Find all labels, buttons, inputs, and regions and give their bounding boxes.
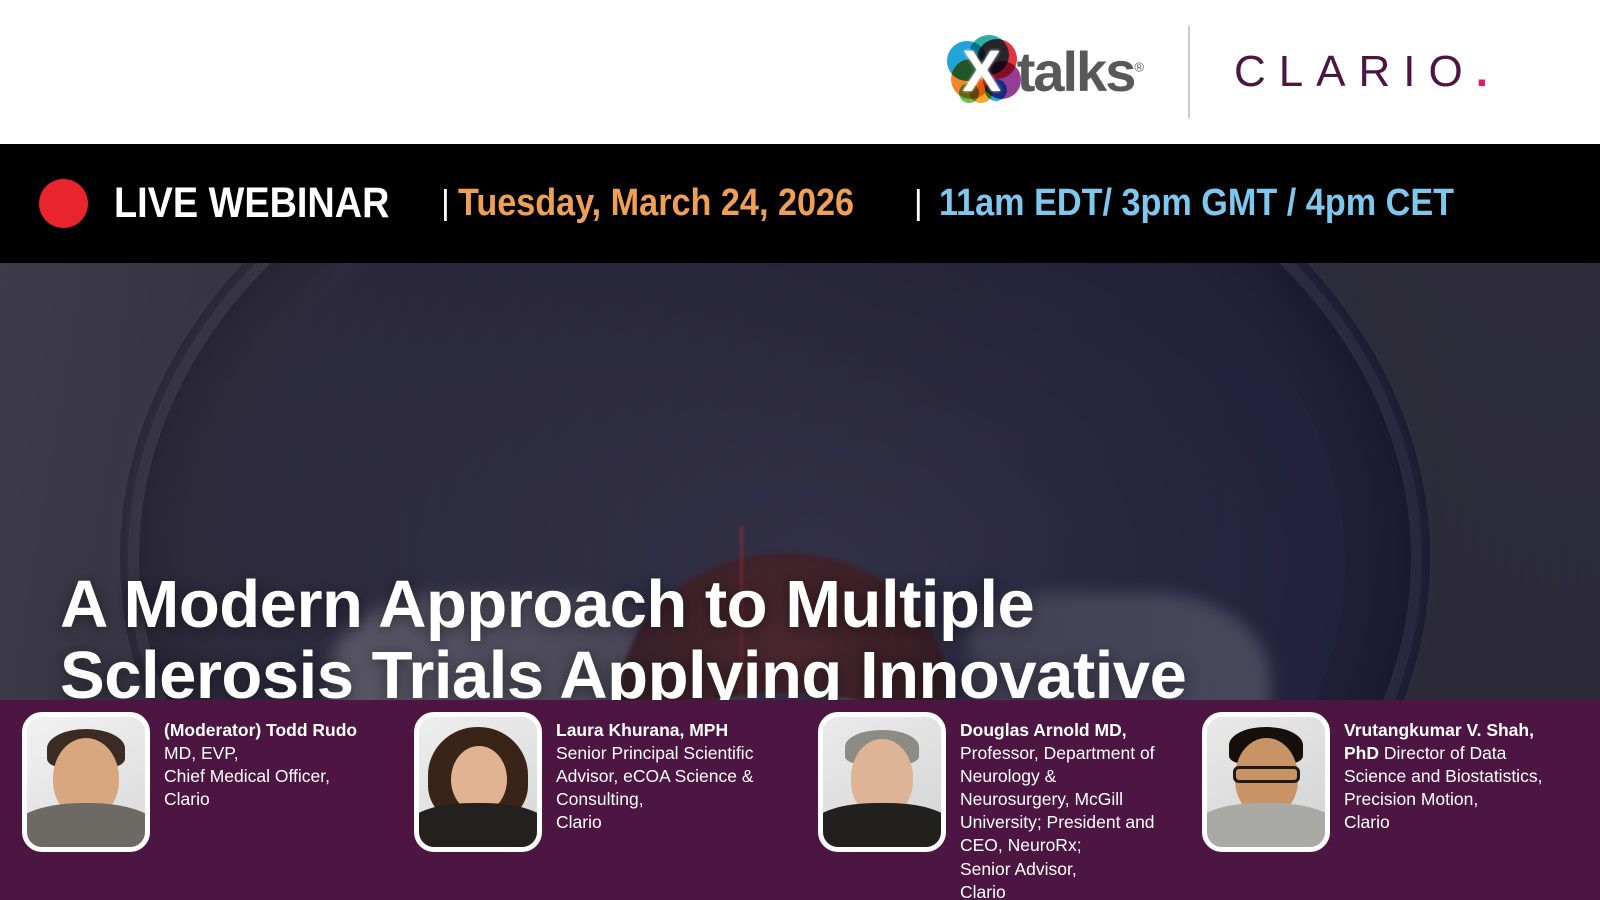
speaker-role-line: Professor, Department of: [960, 742, 1155, 765]
speaker-card-todd-rudo: (Moderator) Todd Rudo MD, EVP, Chief Med…: [0, 700, 400, 900]
logo-divider: [1188, 26, 1190, 118]
logo-group: X talks® CLARIO.: [945, 26, 1488, 118]
speaker-role-line: Precision Motion,: [1344, 788, 1542, 811]
speaker-company: Clario: [556, 811, 753, 834]
speaker-photo-todd-rudo: [22, 712, 150, 852]
speaker-role-line: Neurology &: [960, 765, 1155, 788]
webinar-promo-page: X talks® CLARIO. LIVE WEBINAR | Tuesday,…: [0, 0, 1600, 900]
speaker-role-line: Senior Advisor,: [960, 858, 1155, 881]
title-line-2: Sclerosis Trials Applying Innovative: [60, 640, 1500, 700]
speaker-card-douglas-arnold: Douglas Arnold MD, Professor, Department…: [810, 700, 1198, 900]
speaker-name: Laura Khurana, MPH: [556, 719, 753, 742]
speaker-role-line: Advisor, eCOA Science &: [556, 765, 753, 788]
speaker-company: Clario: [960, 881, 1155, 900]
webinar-time: 11am EDT/ 3pm GMT / 4pm CET: [939, 182, 1454, 225]
speaker-role-line: Consulting,: [556, 788, 753, 811]
speaker-role-line: Neurosurgery, McGill: [960, 788, 1155, 811]
speaker-photo-douglas-arnold: [818, 712, 946, 852]
speaker-degree: PhD: [1344, 743, 1379, 763]
speaker-role-line: University; President and: [960, 811, 1155, 834]
title-line-1: A Modern Approach to Multiple: [60, 569, 1500, 640]
speaker-company: Clario: [164, 788, 357, 811]
live-separator-2: |: [914, 184, 923, 223]
eyeglasses-icon: [1233, 766, 1300, 783]
xtalks-x-glyph: X: [945, 33, 1019, 111]
xtalks-logo[interactable]: X talks®: [945, 33, 1144, 111]
speakers-row: (Moderator) Todd Rudo MD, EVP, Chief Med…: [0, 700, 1600, 900]
live-indicator-icon: [39, 179, 88, 228]
webinar-date: Tuesday, March 24, 2026: [458, 182, 854, 225]
clario-logo[interactable]: CLARIO.: [1234, 50, 1488, 94]
speaker-company: Clario: [1344, 811, 1542, 834]
registered-mark-icon: ®: [1134, 59, 1144, 74]
speaker-photo-laura-khurana: [414, 712, 542, 852]
speaker-name: (Moderator) Todd Rudo: [164, 719, 357, 742]
speaker-degree-and-role: PhD Director of Data: [1344, 742, 1542, 765]
speaker-card-vrutangkumar-shah: Vrutangkumar V. Shah, PhD Director of Da…: [1198, 700, 1598, 900]
clario-dot: .: [1476, 47, 1488, 96]
header-logo-bar: X talks® CLARIO.: [0, 0, 1600, 144]
speaker-role-line: CEO, NeuroRx;: [960, 834, 1155, 857]
speaker-role-line: Chief Medical Officer,: [164, 765, 357, 788]
speaker-card-laura-khurana: Laura Khurana, MPH Senior Principal Scie…: [400, 700, 810, 900]
live-webinar-label: LIVE WEBINAR: [114, 179, 389, 228]
speaker-name: Vrutangkumar V. Shah,: [1344, 719, 1542, 742]
speaker-photo-vrutangkumar-shah: [1202, 712, 1330, 852]
xtalks-icon: X: [945, 33, 1019, 111]
speaker-info-todd-rudo: (Moderator) Todd Rudo MD, EVP, Chief Med…: [164, 712, 357, 811]
speaker-info-douglas-arnold: Douglas Arnold MD, Professor, Department…: [960, 712, 1155, 900]
live-webinar-bar: LIVE WEBINAR | Tuesday, March 24, 2026 |…: [0, 144, 1600, 263]
speaker-info-vrutangkumar-shah: Vrutangkumar V. Shah, PhD Director of Da…: [1344, 712, 1542, 834]
speaker-info-laura-khurana: Laura Khurana, MPH Senior Principal Scie…: [556, 712, 753, 834]
speaker-role-line: MD, EVP,: [164, 742, 357, 765]
webinar-title: A Modern Approach to Multiple Sclerosis …: [60, 569, 1500, 700]
speaker-role-line: Senior Principal Scientific: [556, 742, 753, 765]
xtalks-wordmark: talks®: [1017, 44, 1144, 100]
speaker-role-line: Science and Biostatistics,: [1344, 765, 1542, 788]
speaker-role-line: Director of Data: [1379, 743, 1506, 763]
speaker-name: Douglas Arnold MD,: [960, 719, 1155, 742]
live-separator-1: |: [441, 184, 450, 223]
xtalks-wordmark-text: talks: [1017, 40, 1135, 103]
hero-section: A Modern Approach to Multiple Sclerosis …: [0, 263, 1600, 700]
speakers-section: (Moderator) Todd Rudo MD, EVP, Chief Med…: [0, 700, 1600, 900]
clario-wordmark: CLARIO: [1234, 47, 1476, 96]
